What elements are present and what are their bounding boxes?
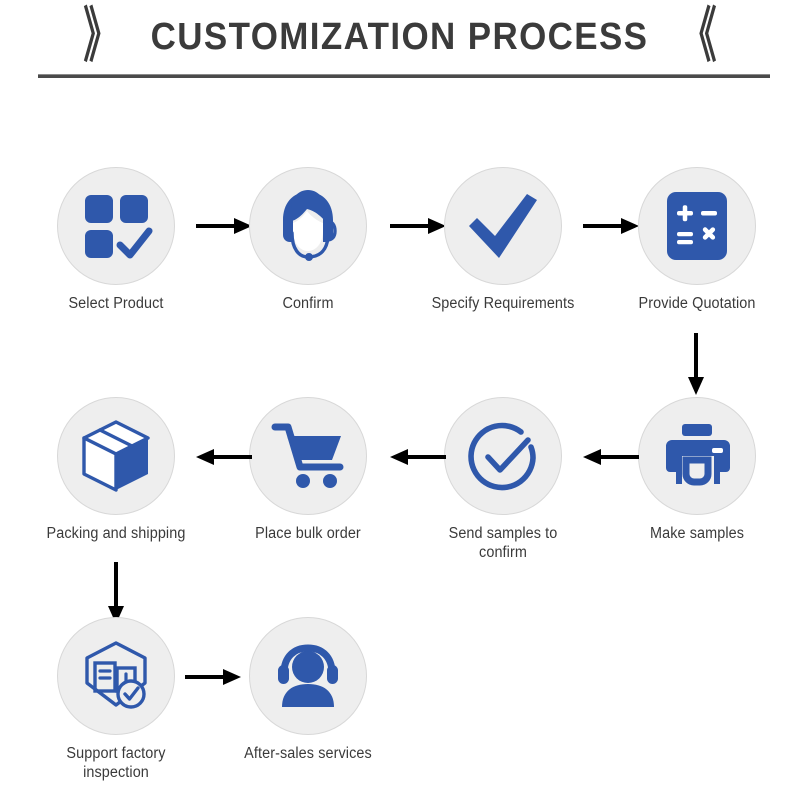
chevron-left-double-icon: 《: [681, 7, 716, 66]
calculator-icon: [663, 190, 731, 262]
step-node-select-product[interactable]: Select Product: [36, 167, 196, 314]
title-row: 》 CUSTOMIZATION PROCESS 《: [0, 8, 800, 66]
shopping-cart-icon: [270, 421, 346, 491]
step-node-place-bulk-order[interactable]: Place bulk order: [228, 397, 388, 544]
step-node-packing-and-shipping[interactable]: Packing and shipping: [36, 397, 196, 544]
arrow-left-3: [196, 445, 252, 469]
step-icon-circle: [638, 167, 756, 285]
headset-agent-icon: [269, 187, 347, 265]
step-icon-circle: [57, 617, 175, 735]
step-label: Send samples to confirm: [429, 525, 578, 563]
step-label: After-sales services: [234, 745, 383, 764]
step-icon-circle: [57, 167, 175, 285]
factory-shield-check-icon: [79, 639, 153, 713]
step-label: Make samples: [623, 525, 772, 544]
step-node-support-factory-inspection[interactable]: Support factory inspection: [36, 617, 196, 783]
step-label: Place bulk order: [234, 525, 383, 544]
arrow-left-2: [390, 445, 446, 469]
title-divider: [38, 74, 770, 78]
step-icon-circle: [444, 167, 562, 285]
step-icon-circle: [444, 397, 562, 515]
page-header: 》 CUSTOMIZATION PROCESS 《: [0, 8, 800, 66]
step-label: Support factory inspection: [42, 745, 191, 783]
step-label: Select Product: [42, 295, 191, 314]
step-node-send-samples-to-confirm[interactable]: Send samples to confirm: [423, 397, 583, 563]
step-node-confirm[interactable]: Confirm: [228, 167, 388, 314]
grid-check-icon: [79, 189, 153, 263]
step-icon-circle: [249, 617, 367, 735]
step-label: Confirm: [234, 295, 383, 314]
arrow-down-left: [104, 562, 128, 624]
support-person-icon: [271, 643, 345, 709]
step-icon-circle: [249, 397, 367, 515]
package-box-icon: [78, 418, 154, 494]
step-label: Specify Requirements: [429, 295, 578, 314]
chevron-right-double-icon: 》: [84, 7, 119, 66]
page-title: CUSTOMIZATION PROCESS: [151, 16, 649, 59]
step-node-specify-requirements[interactable]: Specify Requirements: [423, 167, 583, 314]
printer-icon: [660, 422, 734, 490]
step-node-after-sales-services[interactable]: After-sales services: [228, 617, 388, 764]
checkmark-icon: [465, 188, 541, 264]
step-icon-circle: [638, 397, 756, 515]
step-label: Provide Quotation: [623, 295, 772, 314]
circle-check-icon: [465, 418, 541, 494]
arrow-left-1: [583, 445, 639, 469]
step-label: Packing and shipping: [42, 525, 191, 544]
arrow-down-right: [684, 333, 708, 395]
step-node-provide-quotation[interactable]: Provide Quotation: [617, 167, 777, 314]
step-node-make-samples[interactable]: Make samples: [617, 397, 777, 544]
step-icon-circle: [57, 397, 175, 515]
step-icon-circle: [249, 167, 367, 285]
